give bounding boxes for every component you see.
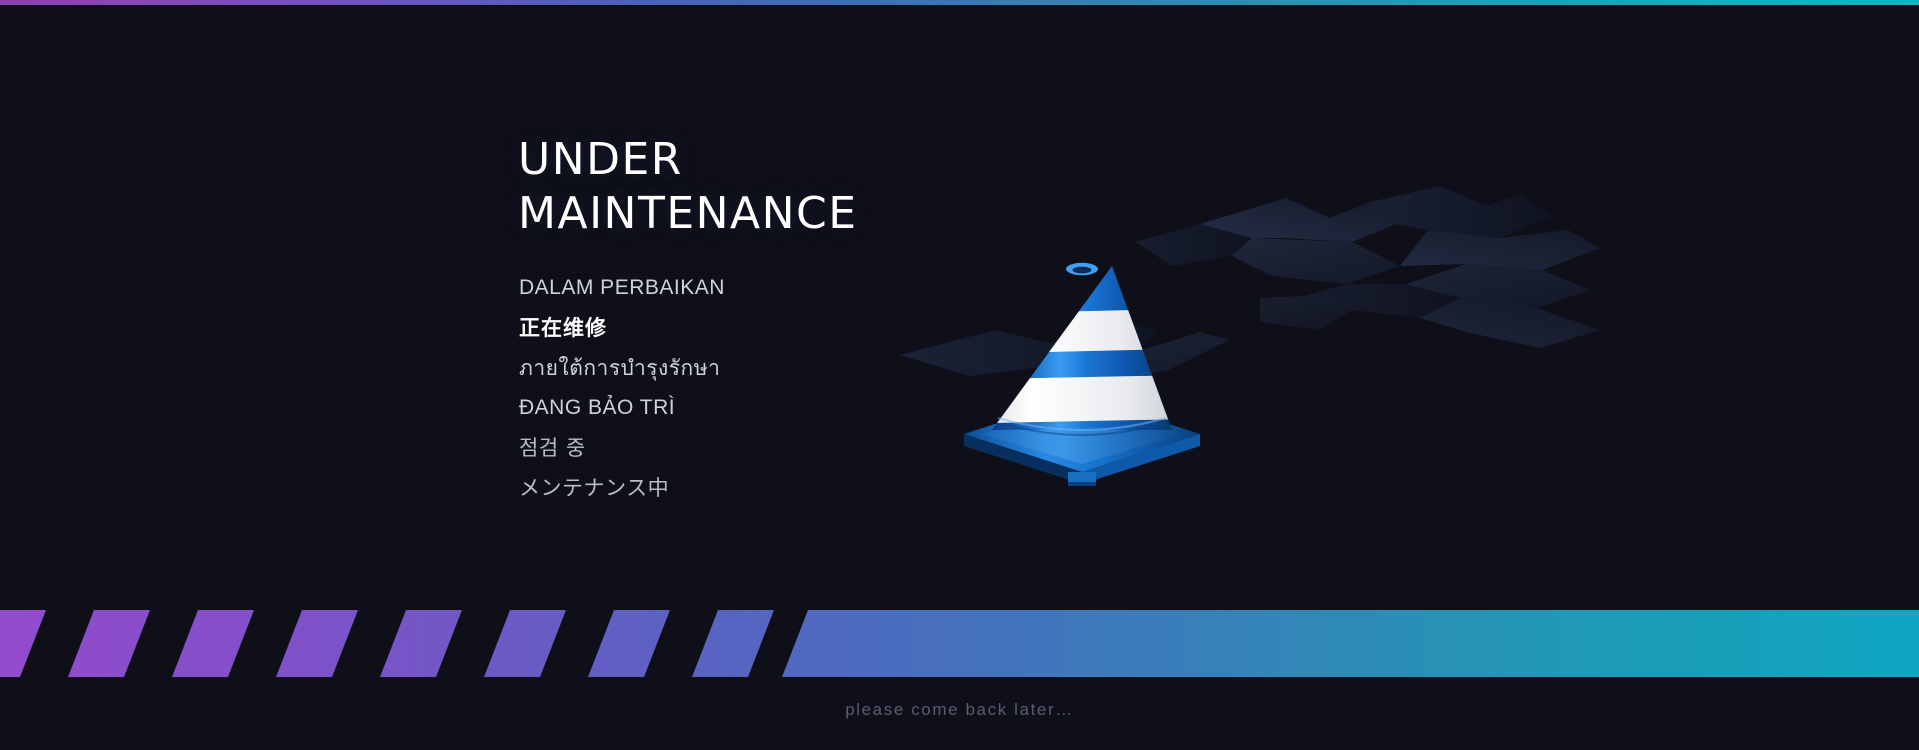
maintenance-page: UNDER MAINTENANCE DALAM PERBAIKAN 正在维修 ภ… <box>0 0 1919 750</box>
footer-note: please come back later… <box>0 700 1919 720</box>
translation-indonesian: DALAM PERBAIKAN <box>519 268 1139 308</box>
page-title: UNDER MAINTENANCE <box>518 133 1278 241</box>
translation-korean: 점검 중 <box>519 428 1139 468</box>
translation-japanese: メンテナンス中 <box>519 468 1139 508</box>
translation-thai: ภายใต้การบำรุงรักษา <box>519 348 1139 388</box>
top-gradient-rule <box>0 0 1919 5</box>
translations-list: DALAM PERBAIKAN 正在维修 ภายใต้การบำรุงรักษา… <box>519 268 1139 508</box>
footer-note-text: please come back later… <box>845 700 1074 720</box>
hazard-stripe-band <box>0 610 1919 677</box>
translation-chinese: 正在维修 <box>519 308 1139 348</box>
translation-vietnamese: ĐANG BẢO TRÌ <box>519 388 1139 428</box>
